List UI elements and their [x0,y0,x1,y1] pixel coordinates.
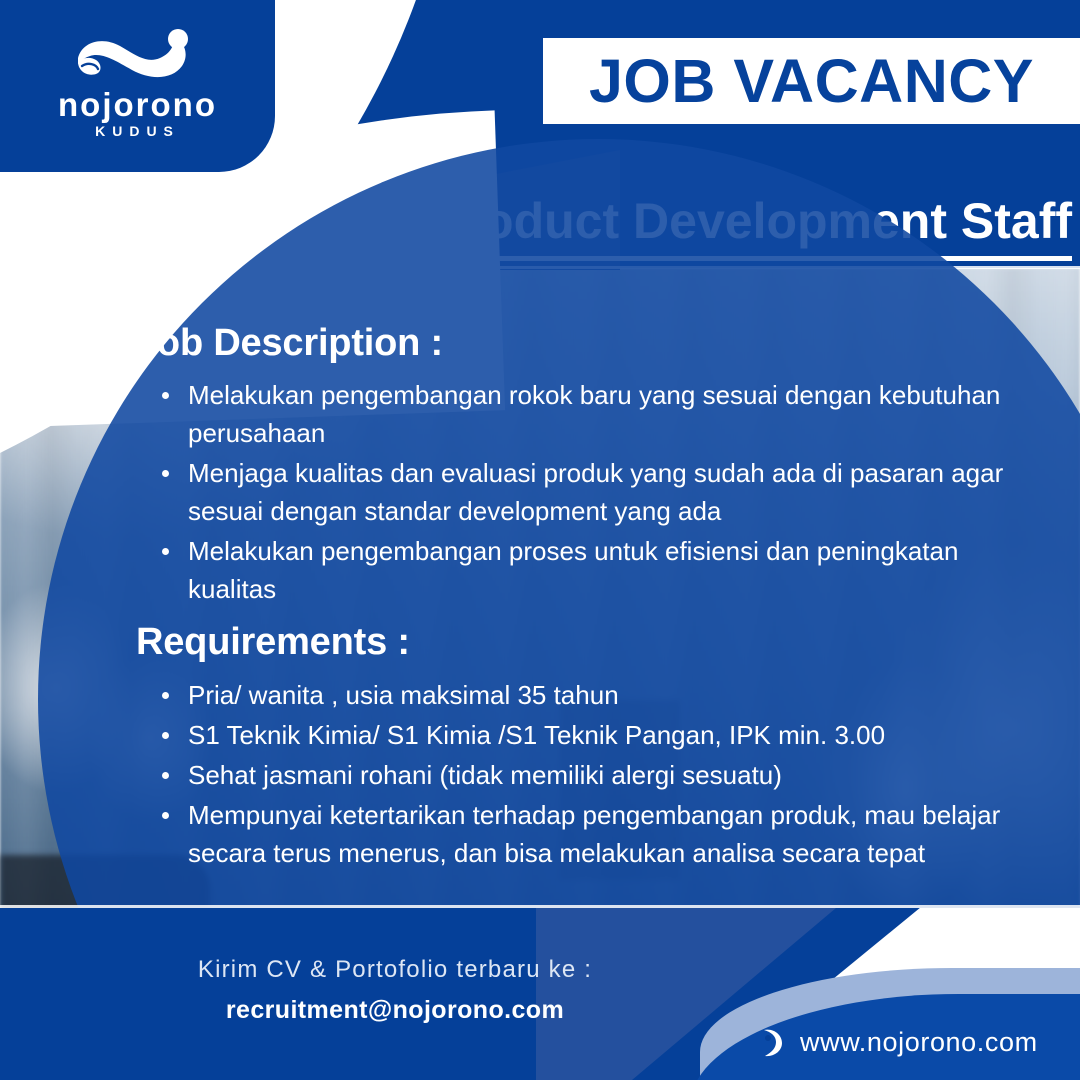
job-vacancy-text: JOB VACANCY [589,51,1034,112]
list-item: Menjaga kualitas dan evaluasi produk yan… [188,454,1048,530]
list-item: Pria/ wanita , usia maksimal 35 tahun [188,676,1028,714]
logo-panel: nojorono KUDUS [0,0,275,172]
list-item: Melakukan pengembangan proses untuk efis… [188,532,1048,608]
list-item: S1 Teknik Kimia/ S1 Kimia /S1 Teknik Pan… [188,716,1028,754]
logo-wordmark: nojorono [0,88,275,121]
job-vacancy-poster: nojorono KUDUS JOB VACANCY Product Devel… [0,0,1080,1080]
website-url: www.nojorono.com [800,1029,1038,1056]
website-link[interactable]: www.nojorono.com [760,1026,1038,1058]
cv-instruction-text: Kirim CV & Portofolio terbaru ke : [0,958,790,982]
wave-swoosh-icon [760,1026,786,1058]
footer: Kirim CV & Portofolio terbaru ke : recru… [0,908,1080,1080]
list-item: Melakukan pengembangan rokok baru yang s… [188,376,1048,452]
list-item: Sehat jasmani rohani (tidak memiliki ale… [188,756,1028,794]
recruitment-email[interactable]: recruitment@nojorono.com [0,998,790,1023]
job-vacancy-banner: JOB VACANCY [543,38,1080,124]
job-description-heading: Job Description : [136,324,443,362]
list-item: Mempunyai ketertarikan terhadap pengemba… [188,796,1028,872]
requirements-heading: Requirements : [136,623,410,661]
content-area: Job Description : Melakukan pengembangan… [0,268,1080,908]
requirements-list: Pria/ wanita , usia maksimal 35 tahun S1… [146,676,1028,874]
logo-city-label: KUDUS [0,124,275,138]
job-description-list: Melakukan pengembangan rokok baru yang s… [146,376,1048,610]
wave-swoosh-icon [72,28,204,86]
